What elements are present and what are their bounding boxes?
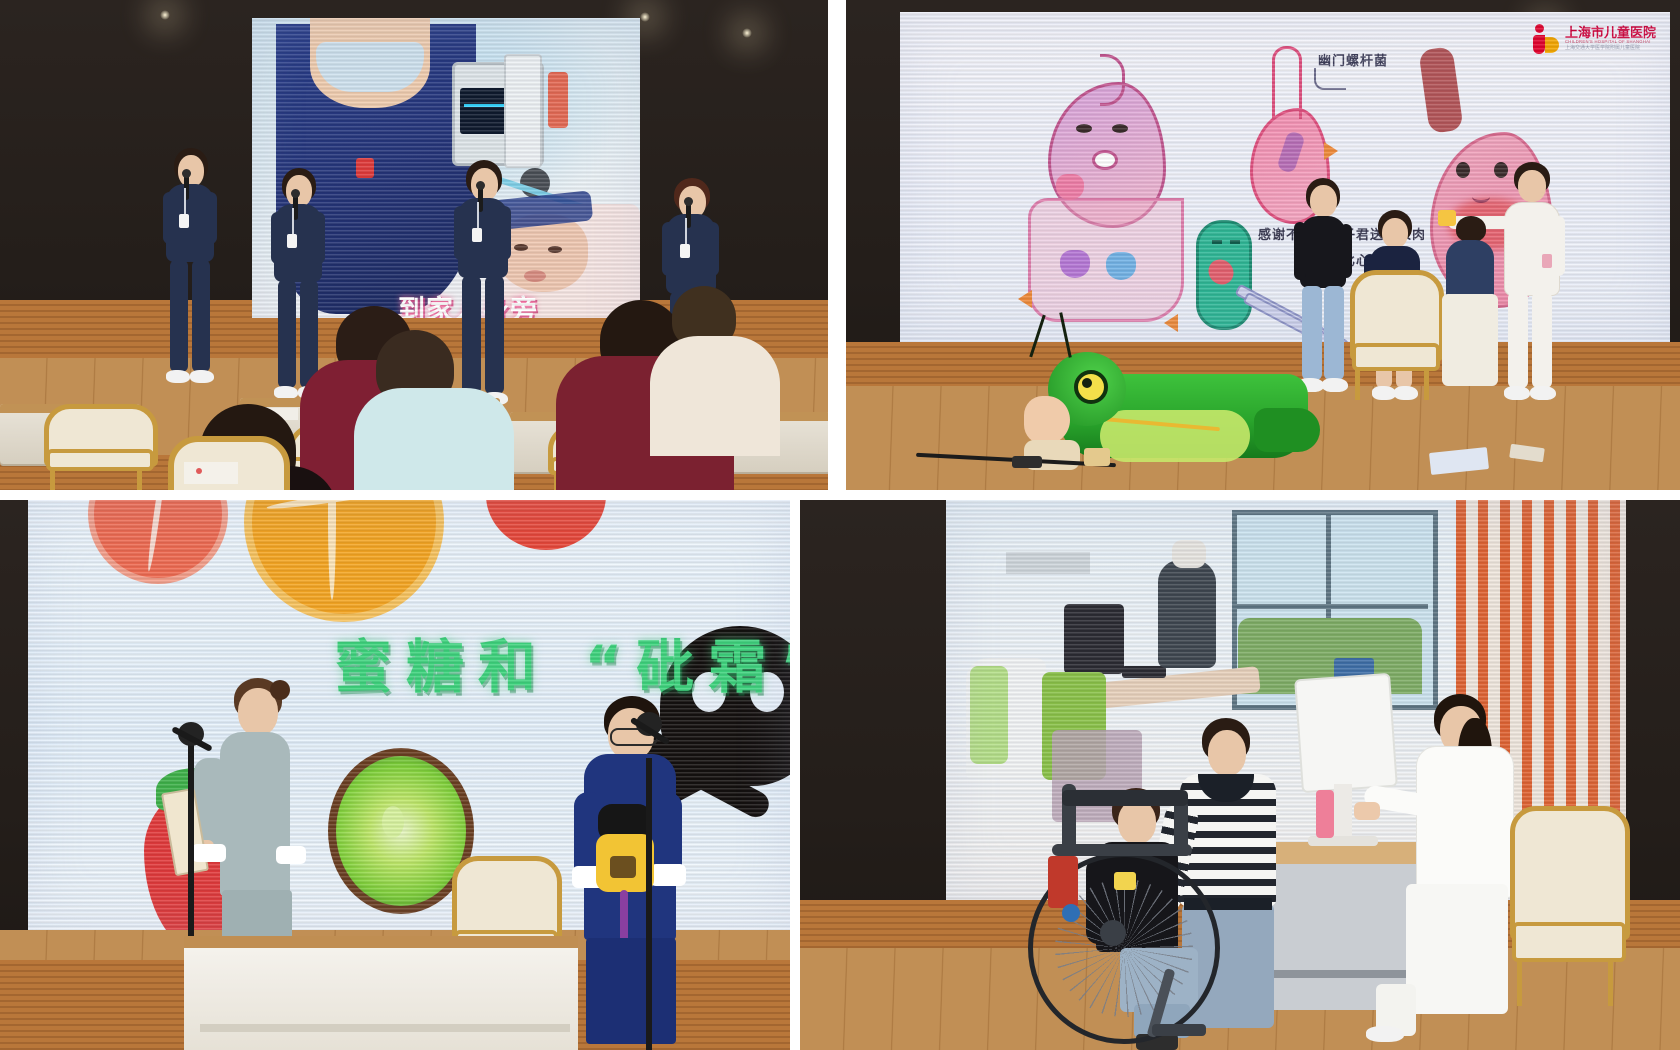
slide-infant-mouth (524, 270, 546, 282)
esophagus-icon (1272, 46, 1302, 119)
bacterium-eye (1230, 240, 1240, 244)
ceiling-light-icon (160, 10, 170, 20)
performance-table (184, 936, 578, 1050)
performer-behind-chair (1442, 216, 1500, 396)
bacteria-devil-icon (1106, 252, 1136, 280)
auditorium-hall-bottom-right (800, 500, 1680, 1050)
keyboard (1122, 666, 1166, 678)
stage-monitor-stand (1334, 784, 1352, 842)
auditorium-hall-top-right: 幽门螺杆菌 感谢不干净筷子君送的人肉 感恩，比心~ 上海市儿童医院 (846, 0, 1680, 490)
kiwi-core (382, 806, 404, 838)
arrow-marker-icon (1018, 290, 1032, 308)
cuff (276, 846, 306, 864)
slide-device (548, 72, 568, 128)
white-coat (1416, 746, 1514, 898)
performer-crosstalk-right (576, 696, 686, 1046)
wheelchair-backrest (1062, 790, 1188, 806)
chair-headrest (1172, 540, 1206, 568)
wheelchair-label (1114, 872, 1136, 890)
logo-affiliation: 上海交通大学医学院附属儿童医院 (1565, 46, 1656, 51)
arrow-marker-icon (1164, 314, 1178, 332)
auditorium-hall-bottom-left: 蜜糖和 “砒霜” (0, 500, 790, 1050)
performer-face (1024, 396, 1070, 444)
bacteria-devil-icon (1060, 250, 1090, 278)
collage-gutter-vertical (828, 0, 846, 490)
stomach-eye (1456, 162, 1470, 178)
audience-chair (44, 404, 148, 490)
hospital-logo: 上海市儿童医院 CHILDREN'S HOSPITAL OF SHANGHAI … (1533, 24, 1656, 54)
plush-toy-detail (610, 856, 636, 878)
green-chair (970, 666, 1008, 764)
hand-sanitiser-bottle (1316, 790, 1334, 838)
costume-pupil (1082, 378, 1092, 388)
ceiling-light-icon (640, 12, 650, 22)
coat-skirt (1406, 884, 1508, 1014)
leader-line (1314, 68, 1346, 90)
desk-monitor (1064, 604, 1124, 674)
logo-mark-icon (1533, 24, 1559, 54)
audience-body (650, 336, 780, 456)
grey-changshan (220, 732, 290, 896)
costume-tail (1254, 408, 1320, 452)
stage-monitor (1294, 673, 1398, 793)
table-shadow (200, 1024, 570, 1032)
wall-panel (1006, 552, 1090, 574)
wheelchair-sticker (1062, 904, 1080, 922)
uniform-emblem-icon (356, 158, 374, 178)
stomach-eye (1076, 124, 1092, 133)
photo-collage: 到家人身旁 (0, 0, 1680, 1050)
slide-infusion-pump (504, 54, 542, 168)
panel-top-left: 到家人身旁 (0, 0, 828, 490)
bacteria-devil-icon (1056, 174, 1084, 200)
audience-body (354, 388, 514, 490)
bacterium-eye (1212, 240, 1222, 244)
hair-bun (270, 680, 290, 700)
performer-nurse-1 (160, 148, 220, 398)
doctor-hand (1354, 802, 1380, 820)
collage-gutter-vertical (790, 500, 800, 1050)
cuff (650, 864, 686, 886)
arrow-marker-icon (1324, 142, 1338, 160)
costume-eye (1074, 370, 1108, 404)
ceiling-light-icon (742, 28, 752, 38)
panel-bottom-left: 蜜糖和 “砒霜” (0, 500, 790, 1050)
surgical-mask-icon (316, 42, 424, 92)
stage-chair (1350, 270, 1434, 400)
wheelchair-backpost (1174, 800, 1188, 856)
stomach-mouth (1092, 150, 1118, 170)
paper-mark (196, 468, 202, 474)
collage-gutter-horizontal (0, 490, 1680, 500)
wheelchair-cushion (1048, 856, 1078, 908)
panel-top-right: 幽门螺杆菌 感谢不干净筷子君送的人肉 感恩，比心~ 上海市儿童医院 (846, 0, 1680, 490)
slide-title-honey-arsenic: 蜜糖和 “砒霜” (334, 620, 790, 704)
logo-name-cn: 上海市儿童医院 (1565, 27, 1656, 41)
slide-infant-eye (548, 246, 562, 253)
slide-label-hpylori: 幽门螺杆菌 (1318, 50, 1388, 69)
performer-white-uniform (1496, 162, 1566, 414)
panel-bottom-right (800, 500, 1680, 1050)
stomach-eye (1112, 124, 1128, 133)
patterned-skirt (1442, 294, 1498, 386)
auditorium-hall-top-left: 到家人身旁 (0, 0, 828, 490)
cuff (192, 844, 226, 862)
paper-on-table (184, 462, 238, 484)
gown-skirt (586, 938, 676, 1044)
performer-caterpillar-costume (996, 348, 1316, 476)
slide-infant-eye (514, 244, 528, 251)
performer-nurse-3 (452, 160, 514, 420)
stomach-mouth (1472, 190, 1490, 203)
wooden-block-prop (1084, 448, 1110, 466)
mic-stand-right (646, 758, 652, 1050)
wheel-hub (1100, 920, 1126, 946)
stage-chair (1510, 806, 1620, 1006)
footrest (1152, 1024, 1206, 1036)
cable-connector (1012, 456, 1042, 468)
office-chair (1158, 560, 1216, 668)
